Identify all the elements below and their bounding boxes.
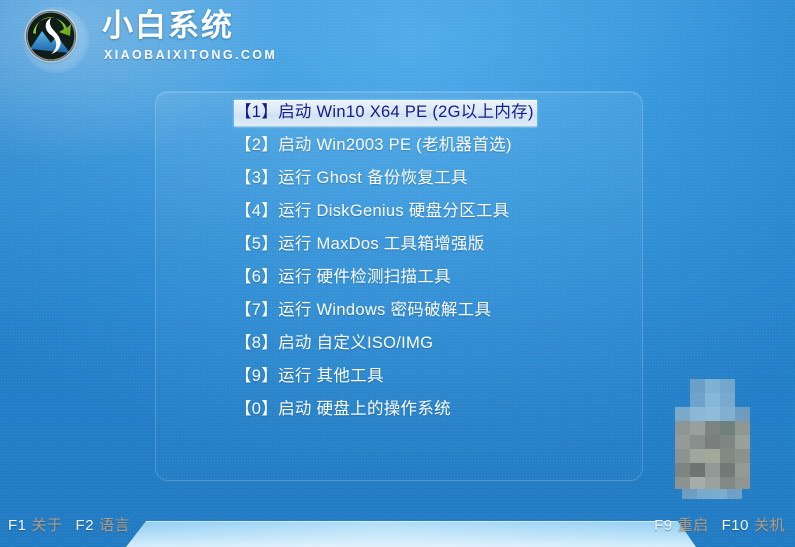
- boot-menu-screen: 小白系统 XIAOBAIXITONG.COM 【1】启动 Win10 X64 P…: [0, 0, 795, 547]
- menu-item-8[interactable]: 【8】启动 自定义ISO/IMG: [155, 331, 641, 356]
- menu-item-0[interactable]: 【0】启动 硬盘上的操作系统: [155, 397, 641, 422]
- menu-item-label: 【1】启动 Win10 X64 PE (2G以上内存): [235, 103, 534, 121]
- hotkey-f2[interactable]: F2: [76, 517, 95, 534]
- recycle-arrow-disc-icon: [26, 11, 76, 61]
- menu-item-5[interactable]: 【5】运行 MaxDos 工具箱增强版: [155, 232, 641, 257]
- menu-item-label: 【9】运行 其他工具: [235, 367, 384, 385]
- menu-item-7[interactable]: 【7】运行 Windows 密码破解工具: [155, 298, 641, 323]
- hotkey-f1[interactable]: F1: [8, 517, 27, 534]
- hotkey-f10-label[interactable]: 关机: [754, 517, 785, 534]
- menu-item-label: 【7】运行 Windows 密码破解工具: [235, 301, 491, 319]
- footer-right-hotkeys[interactable]: F9重启F10关机: [654, 514, 785, 535]
- brand-subtitle: XIAOBAIXITONG.COM: [104, 48, 277, 62]
- menu-item-label: 【8】启动 自定义ISO/IMG: [235, 334, 433, 352]
- hotkey-f10[interactable]: F10: [722, 517, 749, 534]
- boot-menu-list[interactable]: 【1】启动 Win10 X64 PE (2G以上内存)【2】启动 Win2003…: [155, 100, 641, 430]
- menu-item-label: 【0】启动 硬盘上的操作系统: [235, 400, 451, 418]
- menu-item-label: 【6】运行 硬件检测扫描工具: [235, 268, 451, 286]
- footer-left-hotkeys[interactable]: F1关于F2语言: [8, 514, 130, 535]
- menu-item-6[interactable]: 【6】运行 硬件检测扫描工具: [155, 265, 641, 290]
- brand-logo: 小白系统 XIAOBAIXITONG.COM: [18, 3, 268, 75]
- hotkey-f9[interactable]: F9: [654, 517, 673, 534]
- menu-item-1[interactable]: 【1】启动 Win10 X64 PE (2G以上内存): [155, 100, 641, 125]
- footer-hotkey-bar: F1关于F2语言 F9重启F10关机: [0, 505, 795, 547]
- menu-item-2[interactable]: 【2】启动 Win2003 PE (老机器首选): [155, 133, 641, 158]
- pixelated-watermark: [672, 379, 762, 504]
- hotkey-f1-label[interactable]: 关于: [32, 517, 63, 534]
- menu-item-4[interactable]: 【4】运行 DiskGenius 硬盘分区工具: [155, 199, 641, 224]
- menu-item-label: 【2】启动 Win2003 PE (老机器首选): [235, 136, 512, 154]
- brand-title: 小白系统: [102, 7, 234, 45]
- menu-item-label: 【5】运行 MaxDos 工具箱增强版: [235, 235, 485, 253]
- menu-item-3[interactable]: 【3】运行 Ghost 备份恢复工具: [155, 166, 641, 191]
- hotkey-f2-label[interactable]: 语言: [99, 517, 130, 534]
- menu-item-label: 【3】运行 Ghost 备份恢复工具: [235, 169, 468, 187]
- menu-item-label: 【4】运行 DiskGenius 硬盘分区工具: [235, 202, 510, 220]
- menu-item-9[interactable]: 【9】运行 其他工具: [155, 364, 641, 389]
- hotkey-f9-label[interactable]: 重启: [678, 517, 709, 534]
